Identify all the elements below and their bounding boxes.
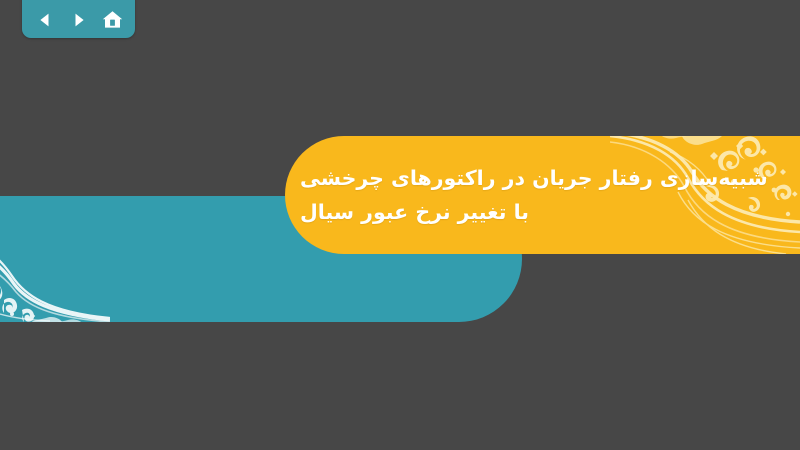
navigation-bar (22, 0, 135, 38)
back-button[interactable] (31, 7, 59, 33)
home-button[interactable] (98, 7, 126, 33)
arabesque-ornament-teal (0, 196, 110, 322)
home-icon (102, 10, 123, 30)
back-icon (36, 11, 54, 29)
title-line-1: شبیه‌سازی رفتار جریان در راکتورهای چرخشی (300, 161, 768, 195)
forward-icon (70, 11, 88, 29)
slide-title: شبیه‌سازی رفتار جریان در راکتورهای چرخشی… (300, 136, 770, 254)
title-line-2: با تغییر نرخ عبور سیال (300, 195, 529, 229)
forward-button[interactable] (65, 7, 93, 33)
presentation-slide: شبیه‌سازی رفتار جریان در راکتورهای چرخشی… (0, 0, 800, 450)
